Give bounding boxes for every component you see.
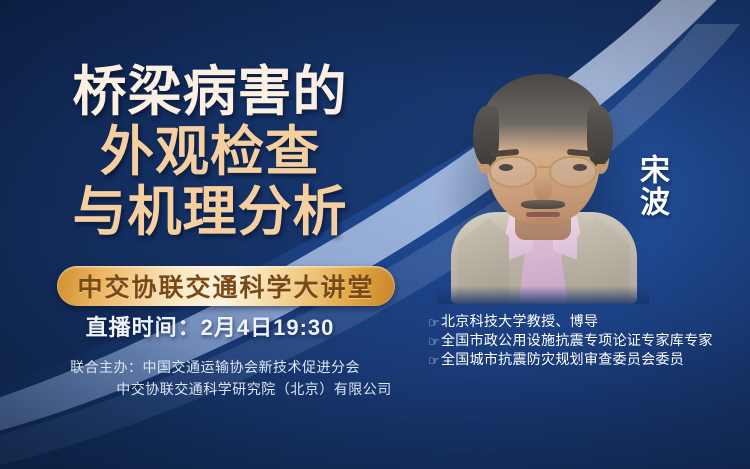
portrait-nose bbox=[534, 176, 552, 202]
portrait-chin bbox=[515, 218, 571, 236]
pointing-hand-icon: ☞ bbox=[428, 313, 440, 332]
title-line-1: 桥梁病害的 bbox=[0, 62, 420, 122]
title-line-2: 外观检查 bbox=[0, 122, 420, 182]
series-banner: 中交协联交通科学大讲堂 bbox=[57, 266, 395, 306]
portrait-bottom-fade bbox=[437, 286, 649, 304]
webinar-poster: 桥梁病害的 外观检查 与机理分析 中交协联交通科学大讲堂 直播时间：2月4日19… bbox=[0, 0, 750, 469]
speaker-name: 宋波 bbox=[632, 154, 670, 218]
speaker-portrait bbox=[437, 58, 649, 304]
credential-text: 北京科技大学教授、博导 bbox=[441, 312, 598, 331]
pointing-hand-icon: ☞ bbox=[428, 332, 440, 351]
portrait-mustache bbox=[521, 200, 565, 209]
speaker-credentials: ☞ 北京科技大学教授、博导 ☞ 全国市政公用设施抗震专项论证专家库专家 ☞ 全国… bbox=[428, 312, 748, 369]
organizer-line-2: 中交协联交通科学研究院（北京）有限公司 bbox=[0, 378, 430, 400]
live-time: 直播时间：2月4日19:30 bbox=[0, 310, 420, 342]
credential-item: ☞ 北京科技大学教授、博导 bbox=[428, 312, 748, 331]
glasses-arm-right bbox=[597, 164, 607, 166]
series-banner-label: 中交协联交通科学大讲堂 bbox=[77, 268, 374, 304]
organizers: 联合主办：中国交通运输协会新技术促进分会 中交协联交通科学研究院（北京）有限公司 bbox=[0, 356, 430, 400]
pointing-hand-icon: ☞ bbox=[428, 351, 440, 370]
glasses-arm-left bbox=[479, 164, 489, 166]
glasses-lens-left bbox=[489, 156, 537, 188]
glasses-lens-right bbox=[549, 156, 597, 188]
organizer-line-1: 联合主办：中国交通运输协会新技术促进分会 bbox=[0, 356, 430, 378]
title-line-3: 与机理分析 bbox=[0, 182, 420, 242]
credential-item: ☞ 全国城市抗震防灾规划审查委员会委员 bbox=[428, 350, 748, 369]
glasses-bridge bbox=[537, 166, 551, 168]
credential-text: 全国城市抗震防灾规划审查委员会委员 bbox=[441, 350, 684, 369]
poster-title: 桥梁病害的 外观检查 与机理分析 bbox=[0, 62, 420, 242]
credential-item: ☞ 全国市政公用设施抗震专项论证专家库专家 bbox=[428, 331, 748, 350]
credential-text: 全国市政公用设施抗震专项论证专家库专家 bbox=[441, 331, 713, 350]
portrait-mouth bbox=[526, 212, 560, 217]
